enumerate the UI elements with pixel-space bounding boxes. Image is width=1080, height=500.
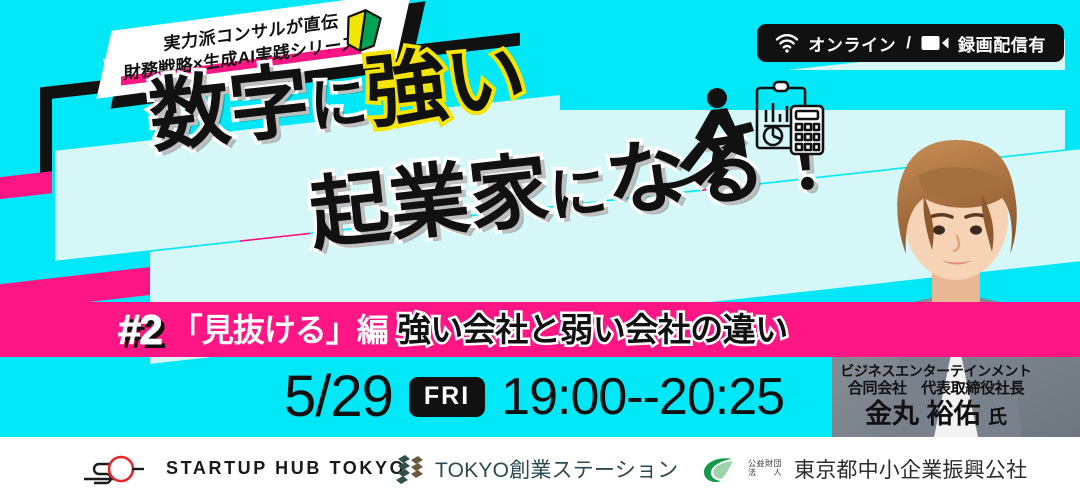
speaker-company-line-2: 合同会社 代表取締役社長 bbox=[798, 380, 1074, 398]
online-badge: オンライン / 録画配信有 bbox=[757, 24, 1064, 62]
episode-number: #2 bbox=[118, 309, 161, 351]
footer-logo-bar: STARTUP HUB TOKYO TOKYO創業ステーション bbox=[0, 437, 1080, 500]
speaker-name-row: 金丸 裕佑 氏 bbox=[798, 400, 1074, 430]
recording-label: 録画配信有 bbox=[958, 31, 1046, 56]
event-date: 5/29 bbox=[284, 368, 393, 426]
episode-band-content: #2 「見抜ける」編 強い会社と弱い会社の違い bbox=[0, 302, 1080, 357]
speaker-company-line-1: ビジネスエンターテインメント bbox=[798, 363, 1074, 379]
headline-ni: に bbox=[306, 69, 371, 140]
startup-hub-tokyo-logo: STARTUP HUB TOKYO bbox=[78, 452, 406, 486]
event-time: 19:00--20:25 bbox=[501, 371, 784, 423]
online-label: オンライン bbox=[808, 31, 896, 56]
day-of-week-badge: FRI bbox=[409, 377, 485, 417]
headline-ni-2: に bbox=[546, 158, 611, 229]
headline-suuji: 数字 bbox=[145, 56, 314, 162]
tokyo-smes-support-center-logo: 公益財団 法 人 東京都中小企業振興公社 bbox=[700, 454, 1027, 484]
kosha-corporate-prefix: 公益財団 法 人 bbox=[745, 460, 785, 477]
tokyo-sogyo-station-mark bbox=[394, 453, 428, 485]
video-camera-icon bbox=[921, 34, 949, 52]
badge-separator: / bbox=[906, 33, 911, 53]
wifi-icon bbox=[775, 34, 799, 53]
startup-hub-tokyo-text: STARTUP HUB TOKYO bbox=[166, 458, 406, 479]
clipboard-calculator-icon bbox=[745, 78, 835, 168]
episode-subtitle: 強い会社と弱い会社の違い bbox=[398, 313, 788, 346]
tokyo-smes-support-text: 東京都中小企業振興公社 bbox=[794, 454, 1027, 484]
tokyo-sogyo-station-logo: TOKYO創業ステーション bbox=[394, 453, 678, 485]
speaker-name-suffix: 氏 bbox=[988, 407, 1007, 428]
episode-part-label: 「見抜ける」編 bbox=[171, 314, 388, 346]
speaker-name: 金丸 裕佑 bbox=[865, 399, 981, 429]
tokyo-smes-support-mark bbox=[700, 454, 736, 484]
startup-hub-tokyo-mark bbox=[78, 452, 154, 486]
event-poster: 実力派コンサルが直伝 財務戦略×生成AI実践シリーズ オンライン / 録画配信有… bbox=[0, 0, 1080, 500]
speaker-info: ビジネスエンターテインメント 合同会社 代表取締役社長 金丸 裕佑 氏 bbox=[798, 363, 1074, 430]
headline-tsuyoi: 強い bbox=[362, 32, 531, 138]
tokyo-sogyo-station-text: TOKYO創業ステーション bbox=[435, 454, 678, 484]
